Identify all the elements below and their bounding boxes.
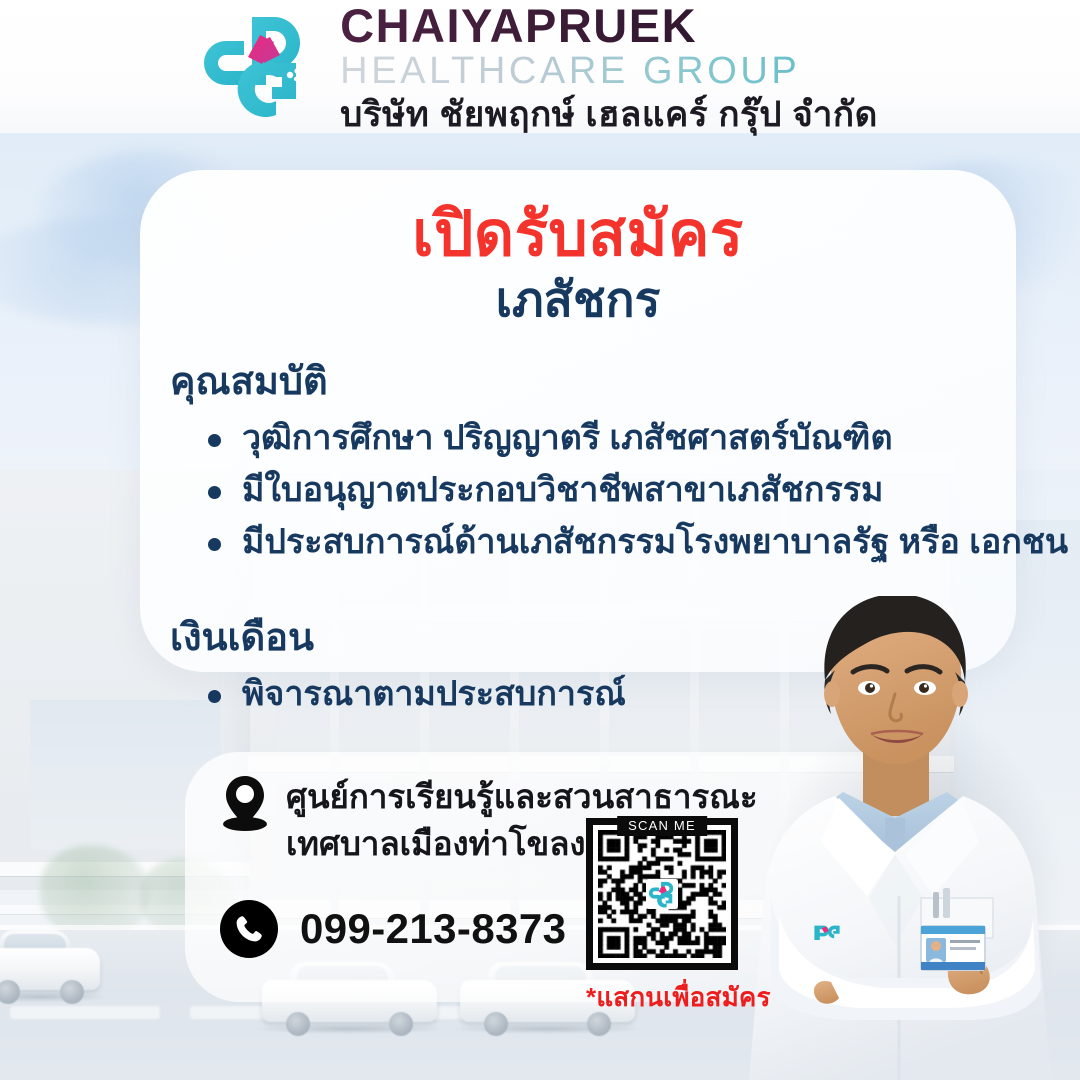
position-title: เภสัชกร	[140, 275, 1016, 328]
qualifications-heading: คุณสมบัติ	[170, 350, 1016, 411]
phone-row[interactable]: 099-213-8373	[220, 900, 566, 958]
brand-name-th: บริษัท ชัยพฤกษ์ เฮลแคร์ กรุ๊ป จำกัด	[340, 97, 878, 132]
page-title: เปิดรับสมัคร	[140, 200, 1016, 269]
list-item: มีใบอนุญาตประกอบวิชาชีพสาขาเภสัชกรรม	[200, 465, 1016, 517]
crosswalk-stripe	[10, 1006, 160, 1019]
qr-code[interactable]: SCAN ME	[586, 818, 738, 970]
phone-icon	[220, 900, 278, 958]
headline-block: เปิดรับสมัคร เภสัชกร	[140, 170, 1016, 328]
phone-number: 099-213-8373	[300, 905, 566, 953]
scan-me-label: SCAN ME	[617, 816, 707, 836]
brand-tagline-en: HEALTHCARE GROUP	[340, 52, 878, 90]
list-item: มีประสบการณ์ด้านเภสัชกรรมโรงพยาบาลรัฐ หร…	[200, 517, 1016, 569]
brand-name-en: CHAIYAPRUEK	[340, 2, 878, 49]
cpg-monogram-logo-icon	[202, 11, 322, 123]
address-line-1: ศูนย์การเรียนรู้และสวนสาธารณะ	[286, 774, 758, 821]
brand-lockup: CHAIYAPRUEK HEALTHCARE GROUP บริษัท ชัยพ…	[340, 2, 878, 132]
qr-caption: *แสกนเพื่อสมัคร	[586, 977, 738, 1018]
brand-header-bar: CHAIYAPRUEK HEALTHCARE GROUP บริษัท ชัยพ…	[0, 0, 1080, 133]
qr-center-logo-icon	[646, 879, 678, 909]
pharmacist-portrait-icon	[735, 596, 1080, 1080]
car-shape	[0, 930, 100, 1002]
qualifications-list: วุฒิการศึกษา ปริญญาตรี เภสัชศาสตร์บัณฑิต…	[200, 413, 1016, 568]
job-poster: CHAIYAPRUEK HEALTHCARE GROUP บริษัท ชัยพ…	[0, 0, 1080, 1080]
list-item: วุฒิการศึกษา ปริญญาตรี เภสัชศาสตร์บัณฑิต	[200, 413, 1016, 465]
map-pin-icon	[220, 774, 270, 832]
qr-block[interactable]: SCAN ME *แสกนเพื่อสมัคร	[586, 818, 738, 1018]
